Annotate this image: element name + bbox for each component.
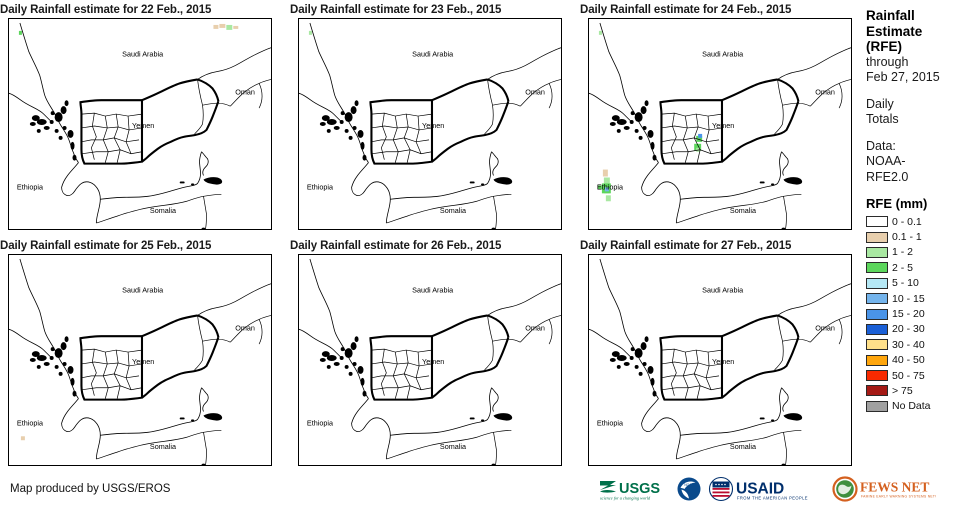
- noaa-logo: NOAA: [676, 476, 702, 502]
- legend-daily-label: Daily: [866, 97, 967, 113]
- legend-item: 10 - 15: [866, 291, 967, 306]
- legend-item: 40 - 50: [866, 353, 967, 368]
- logo-bar: USGS science for a changing world NOAA U…: [598, 474, 936, 504]
- legend-item: 30 - 40: [866, 337, 967, 352]
- legend-item: 15 - 20: [866, 306, 967, 321]
- legend-heading-line3: (RFE): [866, 39, 967, 55]
- label-oman: Oman: [235, 323, 255, 332]
- panel-title: Daily Rainfall estimate for 23 Feb., 201…: [290, 4, 501, 16]
- map-credit: Map produced by USGS/EROS: [10, 483, 170, 495]
- label-saudi-arabia: Saudi Arabia: [702, 50, 744, 59]
- legend-swatch: [866, 293, 888, 304]
- legend-column: Rainfall Estimate (RFE) through Feb 27, …: [866, 8, 967, 414]
- label-somalia: Somalia: [440, 442, 467, 451]
- label-yemen: Yemen: [132, 121, 154, 130]
- usaid-logo: USAID FROM THE AMERICAN PEOPLE: [708, 476, 826, 502]
- label-saudi-arabia: Saudi Arabia: [122, 286, 164, 295]
- legend-swatch: [866, 339, 888, 350]
- legend-label: 40 - 50: [892, 354, 925, 366]
- legend-item: 0.1 - 1: [866, 229, 967, 244]
- usaid-tagline: FROM THE AMERICAN PEOPLE: [737, 496, 808, 501]
- panel-25-feb: Daily Rainfall estimate for 25 Feb., 201…: [0, 240, 282, 468]
- legend-item: > 75: [866, 383, 967, 398]
- noaa-wordmark: NOAA: [684, 483, 694, 487]
- label-somalia: Somalia: [150, 442, 177, 451]
- label-ethiopia: Ethiopia: [17, 182, 44, 191]
- map-frame: Saudi Arabia Oman Yemen Ethiopia Somalia: [588, 18, 852, 230]
- label-oman: Oman: [525, 87, 545, 96]
- label-saudi-arabia: Saudi Arabia: [702, 286, 744, 295]
- rainfall-map: Saudi Arabia Oman Yemen Ethiopia Somalia: [589, 255, 851, 465]
- label-somalia: Somalia: [150, 206, 177, 215]
- rainfall-map: Saudi Arabia Oman Yemen Ethiopia Somalia: [299, 255, 561, 465]
- fews-tagline: FAMINE EARLY WARNING SYSTEMS NETWORK: [861, 495, 936, 499]
- label-oman: Oman: [525, 323, 545, 332]
- panel-title: Daily Rainfall estimate for 26 Feb., 201…: [290, 240, 501, 252]
- spacer: [866, 185, 967, 196]
- legend-title: RFE (mm): [866, 196, 967, 211]
- legend-through-label: through: [866, 55, 967, 71]
- label-saudi-arabia: Saudi Arabia: [412, 286, 454, 295]
- legend-swatch: [866, 401, 888, 412]
- legend-label: 5 - 10: [892, 277, 919, 289]
- legend-item: 50 - 75: [866, 368, 967, 383]
- map-frame: Saudi Arabia Oman Yemen Ethiopia Somalia: [298, 254, 562, 466]
- label-oman: Oman: [815, 87, 835, 96]
- legend-item: 5 - 10: [866, 276, 967, 291]
- legend-label: 1 - 2: [892, 246, 913, 258]
- legend-swatch: [866, 355, 888, 366]
- label-somalia: Somalia: [730, 442, 757, 451]
- legend-swatch: [866, 247, 888, 258]
- label-yemen: Yemen: [422, 357, 444, 366]
- label-saudi-arabia: Saudi Arabia: [122, 50, 164, 59]
- label-ethiopia: Ethiopia: [307, 182, 334, 191]
- legend-label: 20 - 30: [892, 323, 925, 335]
- legend-swatch: [866, 385, 888, 396]
- spacer: [866, 128, 967, 139]
- legend-heading-line2: Estimate: [866, 24, 967, 40]
- label-ethiopia: Ethiopia: [307, 418, 334, 427]
- panel-22-feb: Daily Rainfall estimate for 22 Feb., 201…: [0, 4, 282, 232]
- label-ethiopia: Ethiopia: [597, 418, 624, 427]
- legend-item: 20 - 30: [866, 322, 967, 337]
- legend-swatch: [866, 262, 888, 273]
- legend-swatch: [866, 216, 888, 227]
- legend-swatch: [866, 278, 888, 289]
- legend-label: 0.1 - 1: [892, 231, 922, 243]
- panel-27-feb: Daily Rainfall estimate for 27 Feb., 201…: [580, 240, 862, 468]
- legend-item: 2 - 5: [866, 260, 967, 275]
- legend-data-source-line2: RFE2.0: [866, 170, 967, 186]
- label-oman: Oman: [235, 87, 255, 96]
- panel-title: Daily Rainfall estimate for 27 Feb., 201…: [580, 240, 791, 252]
- panel-title: Daily Rainfall estimate for 24 Feb., 201…: [580, 4, 791, 16]
- legend-item: 0 - 0.1: [866, 214, 967, 229]
- legend-label: No Data: [892, 400, 931, 412]
- label-somalia: Somalia: [730, 206, 757, 215]
- usgs-tagline: science for a changing world: [600, 496, 651, 501]
- map-frame: Saudi Arabia Oman Yemen Ethiopia Somalia: [588, 254, 852, 466]
- fews-wordmark: FEWS NET: [860, 480, 929, 495]
- legend-data-label: Data:: [866, 139, 967, 155]
- label-yemen: Yemen: [712, 357, 734, 366]
- legend-item: 1 - 2: [866, 245, 967, 260]
- legend-label: 2 - 5: [892, 262, 913, 274]
- spacer: [866, 86, 967, 97]
- label-ethiopia: Ethiopia: [17, 418, 44, 427]
- label-somalia: Somalia: [440, 206, 467, 215]
- legend-label: 15 - 20: [892, 308, 925, 320]
- label-yemen: Yemen: [422, 121, 444, 130]
- rainfall-map: Saudi Arabia Oman Yemen Ethiopia Somalia: [9, 255, 271, 465]
- legend-heading-line1: Rainfall: [866, 8, 967, 24]
- legend-swatch: [866, 324, 888, 335]
- rainfall-map: Saudi Arabia Oman Yemen Ethiopia Somalia: [589, 19, 851, 229]
- usgs-logo: USGS science for a changing world: [598, 476, 670, 502]
- panel-title: Daily Rainfall estimate for 22 Feb., 201…: [0, 4, 211, 16]
- legend-item: No Data: [866, 399, 967, 414]
- label-saudi-arabia: Saudi Arabia: [412, 50, 454, 59]
- map-frame: Saudi Arabia Oman Yemen Ethiopia Somalia: [8, 18, 272, 230]
- legend-swatch: [866, 370, 888, 381]
- label-ethiopia: Ethiopia: [597, 182, 624, 191]
- legend-swatch: [866, 309, 888, 320]
- legend-data-source-line1: NOAA-: [866, 154, 967, 170]
- rainfall-map: Saudi Arabia Oman Yemen Ethiopia Somalia: [299, 19, 561, 229]
- label-oman: Oman: [815, 323, 835, 332]
- rainfall-map: Saudi Arabia Oman Yemen Ethiopia Somalia: [9, 19, 271, 229]
- label-yemen: Yemen: [712, 121, 734, 130]
- legend-label: 30 - 40: [892, 339, 925, 351]
- legend-through-date: Feb 27, 2015: [866, 70, 967, 86]
- panel-title: Daily Rainfall estimate for 25 Feb., 201…: [0, 240, 211, 252]
- legend-label: 10 - 15: [892, 293, 925, 305]
- rainfall-cells: [309, 31, 312, 35]
- legend-totals-label: Totals: [866, 112, 967, 128]
- legend-swatch: [866, 232, 888, 243]
- map-frame: Saudi Arabia Oman Yemen Ethiopia Somalia: [298, 18, 562, 230]
- label-yemen: Yemen: [132, 357, 154, 366]
- panel-23-feb: Daily Rainfall estimate for 23 Feb., 201…: [290, 4, 572, 232]
- legend-label: > 75: [892, 385, 913, 397]
- panel-26-feb: Daily Rainfall estimate for 26 Feb., 201…: [290, 240, 572, 468]
- legend-label: 50 - 75: [892, 370, 925, 382]
- fews-net-logo: FEWS NET FAMINE EARLY WARNING SYSTEMS NE…: [832, 476, 936, 502]
- panel-24-feb: Daily Rainfall estimate for 24 Feb., 201…: [580, 4, 862, 232]
- legend-label: 0 - 0.1: [892, 216, 922, 228]
- rainfall-cells: [21, 436, 25, 440]
- map-frame: Saudi Arabia Oman Yemen Ethiopia Somalia: [8, 254, 272, 466]
